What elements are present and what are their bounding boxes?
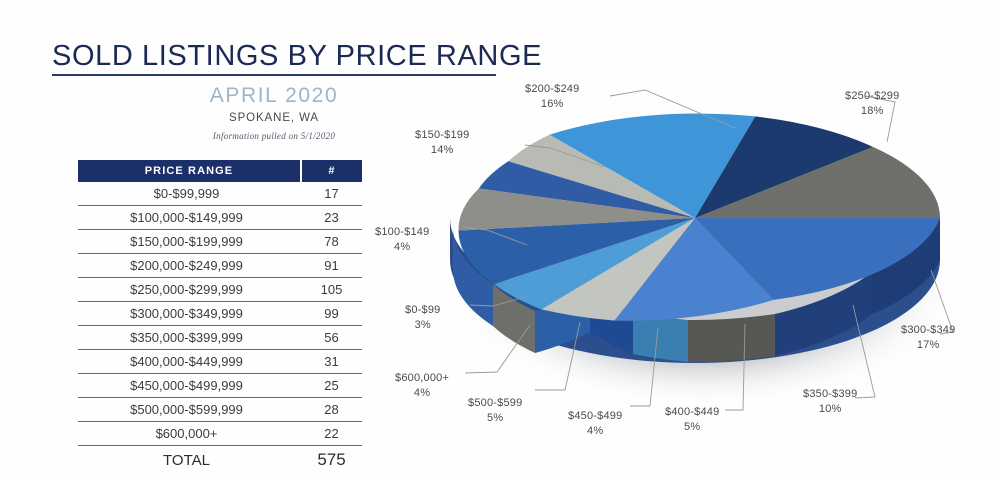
- price-range-table: PRICE RANGE # $0-$99,999 17 $100,000-$14…: [78, 160, 362, 474]
- cell-price-range: $450,000-$499,999: [78, 374, 301, 398]
- label-100-149-pct: 4%: [375, 240, 429, 255]
- cell-price-range: $300,000-$349,999: [78, 302, 301, 326]
- cell-price-range: $350,000-$399,999: [78, 326, 301, 350]
- label-200-249: $200-$249 16%: [525, 82, 579, 112]
- table-row: $600,000+ 22: [78, 422, 362, 446]
- cell-price-range: $0-$99,999: [78, 182, 301, 206]
- cell-count: 105: [301, 278, 362, 302]
- label-300-349-pct: 17%: [901, 338, 955, 353]
- label-0-99-name: $0-$99: [405, 304, 440, 316]
- cell-count: 78: [301, 230, 362, 254]
- left-column: SOLD LISTINGS BY PRICE RANGE APRIL 2020 …: [0, 0, 400, 480]
- cell-price-range: $200,000-$249,999: [78, 254, 301, 278]
- table-row: $500,000-$599,999 28: [78, 398, 362, 422]
- label-450-499-pct: 4%: [568, 424, 622, 439]
- table-row: $250,000-$299,999 105: [78, 278, 362, 302]
- cell-count: 23: [301, 206, 362, 230]
- label-350-399-pct: 10%: [803, 402, 857, 417]
- label-100-149-name: $100-$149: [375, 226, 429, 238]
- label-150-199-pct: 14%: [415, 143, 469, 158]
- cell-count: 99: [301, 302, 362, 326]
- column-header-price-range: PRICE RANGE: [78, 160, 301, 182]
- label-450-499-name: $450-$499: [568, 410, 622, 422]
- cell-price-range: $400,000-$449,999: [78, 350, 301, 374]
- pie-chart: $200-$249 16% $250-$299 18% $150-$199 14…: [375, 60, 1000, 470]
- label-400-449-pct: 5%: [665, 420, 719, 435]
- label-0-99: $0-$99 3%: [405, 303, 440, 333]
- label-250-299-name: $250-$299: [845, 90, 899, 102]
- table-row: $200,000-$249,999 91: [78, 254, 362, 278]
- table-row: $0-$99,999 17: [78, 182, 362, 206]
- cell-count: 25: [301, 374, 362, 398]
- label-100-149: $100-$149 4%: [375, 225, 429, 255]
- cell-count: 17: [301, 182, 362, 206]
- cell-price-range: $150,000-$199,999: [78, 230, 301, 254]
- label-600-plus: $600,000+ 4%: [395, 371, 449, 401]
- label-200-249-pct: 16%: [525, 97, 579, 112]
- label-200-249-name: $200-$249: [525, 83, 579, 95]
- label-300-349-name: $300-$349: [901, 324, 955, 336]
- label-300-349: $300-$349 17%: [901, 323, 955, 353]
- label-450-499: $450-$499 4%: [568, 409, 622, 439]
- cell-price-range: $250,000-$299,999: [78, 278, 301, 302]
- label-350-399-name: $350-$399: [803, 388, 857, 400]
- cell-count: 31: [301, 350, 362, 374]
- cell-total-value: 575: [301, 446, 362, 475]
- label-0-99-pct: 3%: [405, 318, 440, 333]
- column-header-count: #: [301, 160, 362, 182]
- report-page: SOLD LISTINGS BY PRICE RANGE APRIL 2020 …: [0, 0, 1000, 480]
- cell-price-range: $100,000-$149,999: [78, 206, 301, 230]
- label-600-plus-pct: 4%: [395, 386, 449, 401]
- label-500-599-name: $500-$599: [468, 397, 522, 409]
- table-header-row: PRICE RANGE #: [78, 160, 362, 182]
- label-150-199-name: $150-$199: [415, 129, 469, 141]
- table-total-row: TOTAL 575: [78, 446, 362, 475]
- cell-count: 22: [301, 422, 362, 446]
- table-row: $400,000-$449,999 31: [78, 350, 362, 374]
- cell-total-label: TOTAL: [78, 446, 301, 475]
- label-500-599-pct: 5%: [468, 411, 522, 426]
- cell-price-range: $500,000-$599,999: [78, 398, 301, 422]
- cell-count: 28: [301, 398, 362, 422]
- label-600-plus-name: $600,000+: [395, 372, 449, 384]
- label-150-199: $150-$199 14%: [415, 128, 469, 158]
- label-400-449: $400-$449 5%: [665, 405, 719, 435]
- table-row: $350,000-$399,999 56: [78, 326, 362, 350]
- cell-price-range: $600,000+: [78, 422, 301, 446]
- table-row: $300,000-$349,999 99: [78, 302, 362, 326]
- label-250-299-pct: 18%: [845, 104, 899, 119]
- label-500-599: $500-$599 5%: [468, 396, 522, 426]
- label-400-449-name: $400-$449: [665, 406, 719, 418]
- cell-count: 56: [301, 326, 362, 350]
- label-350-399: $350-$399 10%: [803, 387, 857, 417]
- label-250-299: $250-$299 18%: [845, 89, 899, 119]
- table-row: $450,000-$499,999 25: [78, 374, 362, 398]
- price-range-table-wrapper: PRICE RANGE # $0-$99,999 17 $100,000-$14…: [78, 160, 360, 474]
- cell-count: 91: [301, 254, 362, 278]
- table-row: $100,000-$149,999 23: [78, 206, 362, 230]
- table-row: $150,000-$199,999 78: [78, 230, 362, 254]
